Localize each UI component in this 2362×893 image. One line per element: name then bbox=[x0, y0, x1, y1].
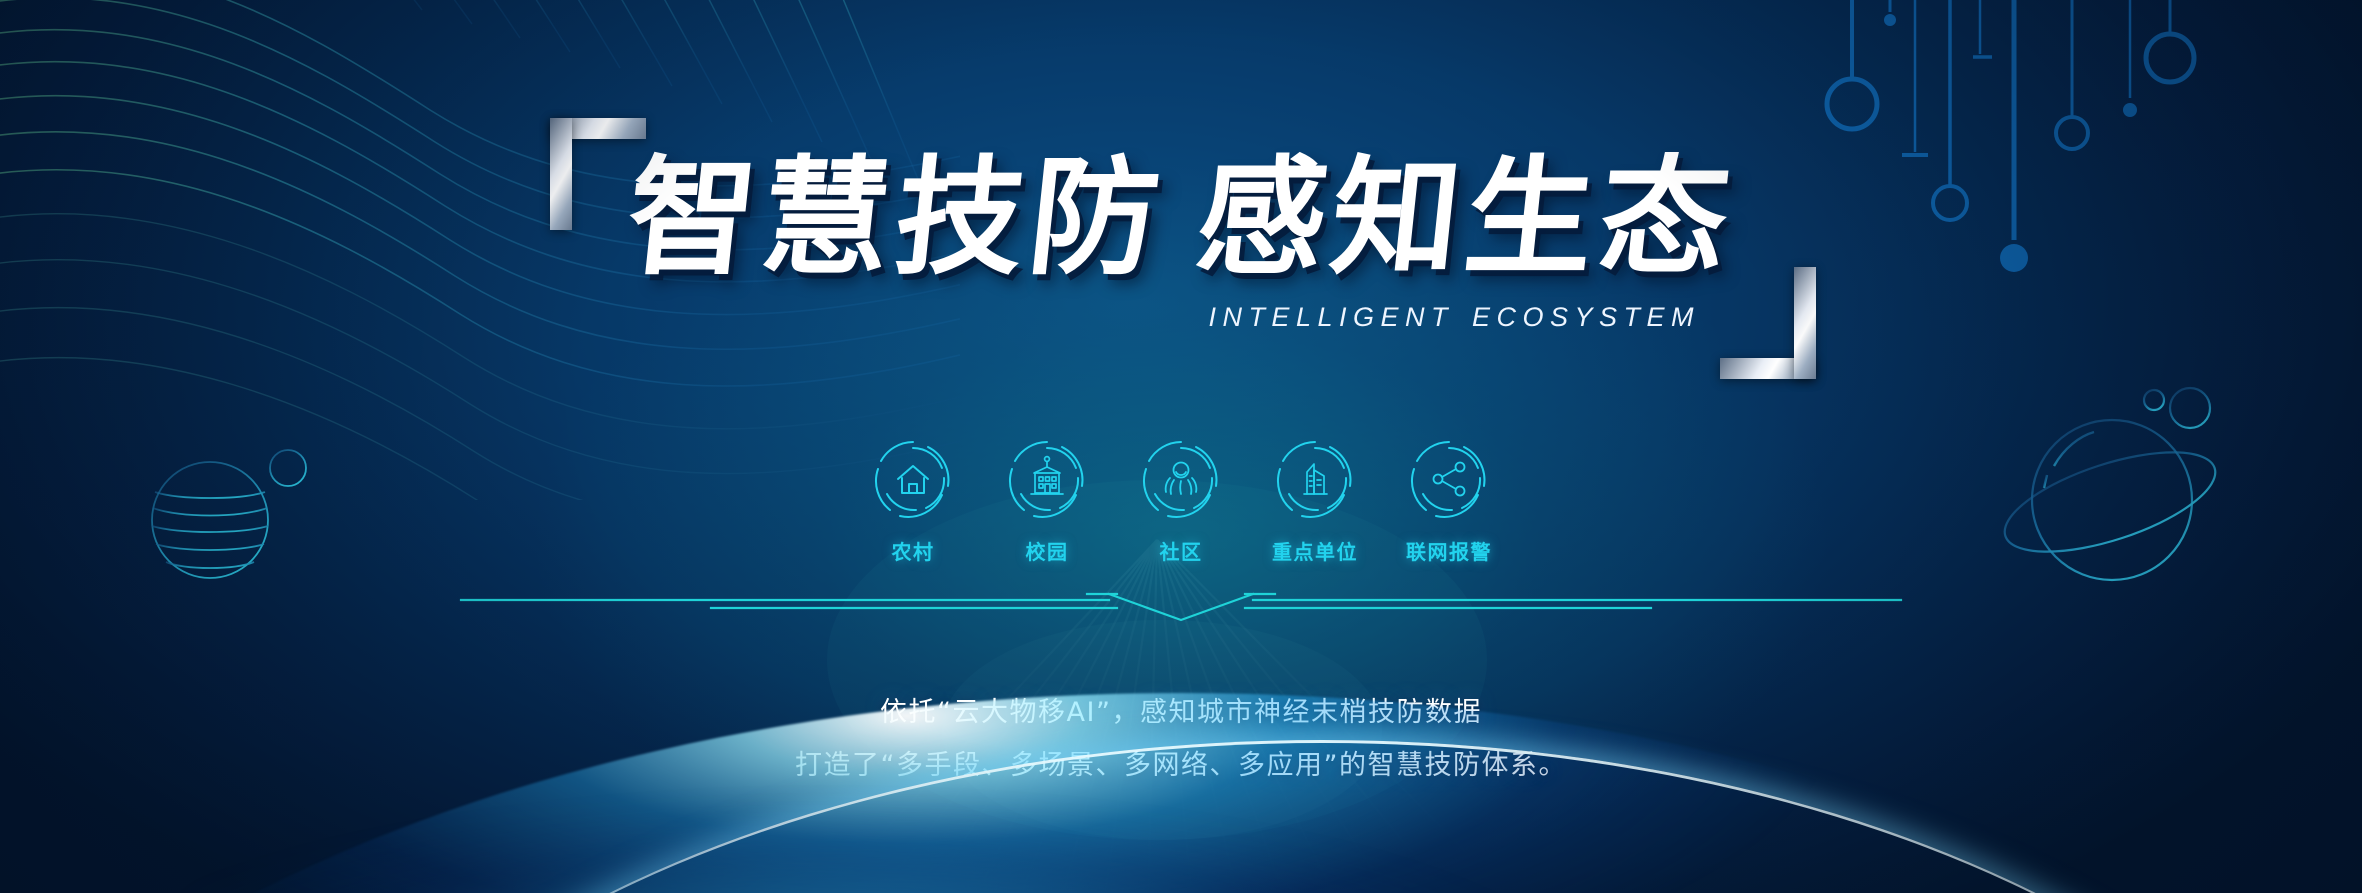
banner-root: 智慧技防感知生态 INTELLIGENTECOSYSTEM bbox=[0, 0, 2362, 893]
background-vignette bbox=[0, 0, 2362, 893]
